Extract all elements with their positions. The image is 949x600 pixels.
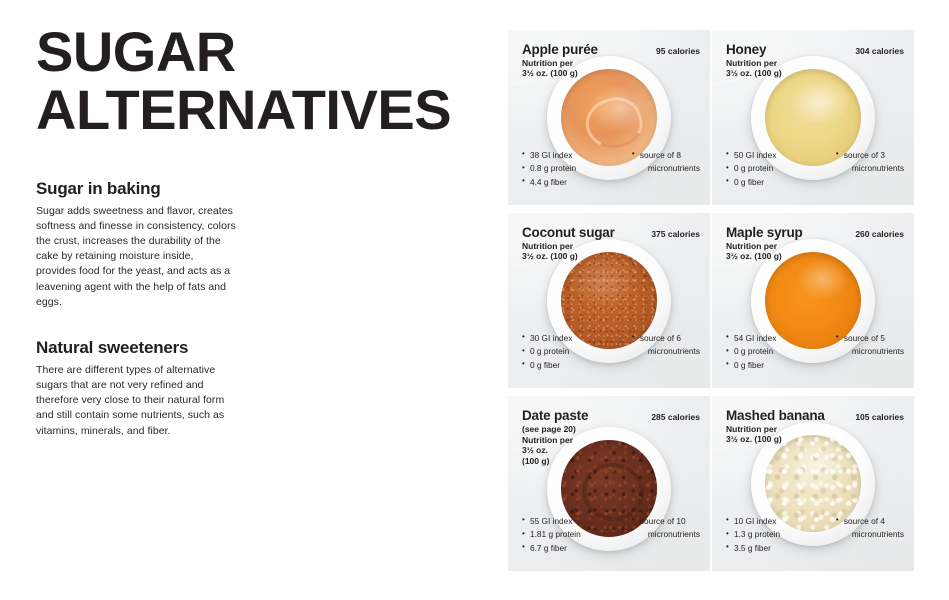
card-facts: 10 GI index 1.3 g protein 3.5 g fiber so… — [726, 515, 904, 555]
fact-list-left: 55 GI index 1.81 g protein 6.7 g fiber — [522, 515, 581, 555]
fact-micronutrients-main: source of 5 — [844, 333, 885, 343]
card-nutrition-basis: Nutrition per 3½ oz. (100 g) — [726, 241, 818, 262]
card-header: Apple purée 95 calories Nutrition per 3½… — [522, 42, 700, 79]
card-mashed-banana: Mashed banana 105 calories Nutrition per… — [712, 396, 914, 571]
fact-protein: 1.81 g protein — [522, 528, 581, 541]
card-facts: 30 GI index 0 g protein 0 g fiber source… — [522, 332, 700, 372]
fact-micronutrients-main: source of 6 — [640, 333, 681, 343]
fact-micronutrients-cont: micronutrients — [640, 345, 700, 358]
fact-fiber: 6.7 g fiber — [522, 542, 581, 555]
fact-gi-index: 30 GI index — [522, 332, 572, 345]
card-header: Mashed banana 105 calories Nutrition per… — [726, 408, 904, 445]
nutrition-basis-line-2: 3½ oz. (100 g) — [522, 251, 614, 261]
fact-gi-index: 54 GI index — [726, 332, 776, 345]
fact-micronutrients: source of 8 micronutrients — [632, 149, 700, 176]
card-title: Date paste — [522, 408, 588, 423]
fact-protein: 0 g protein — [726, 162, 776, 175]
section-natural-sweeteners: Natural sweeteners There are different t… — [36, 338, 236, 439]
fact-micronutrients: source of 6 micronutrients — [632, 332, 700, 359]
card-nutrition-basis: Nutrition per 3½ oz. (100 g) — [522, 58, 614, 79]
card-calories: 260 calories — [849, 229, 904, 239]
card-title: Mashed banana — [726, 408, 825, 423]
nutrition-basis-line-1: Nutrition per — [522, 58, 614, 68]
fact-list-left: 50 GI index 0 g protein 0 g fiber — [726, 149, 776, 189]
fact-list-right: source of 5 micronutrients — [832, 332, 904, 372]
nutrition-basis-line-1: Nutrition per — [522, 241, 614, 251]
section-heading: Sugar in baking — [36, 179, 236, 199]
nutrition-basis-line-1: Nutrition per — [726, 424, 818, 434]
fact-list-right: source of 6 micronutrients — [628, 332, 700, 372]
fact-fiber: 0 g fiber — [726, 176, 776, 189]
fact-fiber: 3.5 g fiber — [726, 542, 780, 555]
nutrition-basis-line-2: 3½ oz. (100 g) — [726, 434, 818, 444]
card-apple-puree: Apple purée 95 calories Nutrition per 3½… — [508, 30, 710, 205]
card-facts: 38 GI index 0.8 g protein 4.4 g fiber so… — [522, 149, 700, 189]
fact-micronutrients-cont: micronutrients — [844, 345, 904, 358]
card-honey: Honey 304 calories Nutrition per 3½ oz. … — [712, 30, 914, 205]
sweetener-cards-grid: Apple purée 95 calories Nutrition per 3½… — [508, 30, 914, 571]
fact-micronutrients: source of 10 micronutrients — [632, 515, 700, 542]
card-title: Coconut sugar — [522, 225, 615, 240]
card-header: Coconut sugar 375 calories Nutrition per… — [522, 225, 700, 262]
fact-protein: 0 g protein — [726, 345, 776, 358]
section-heading: Natural sweeteners — [36, 338, 236, 358]
fact-protein: 0 g protein — [522, 345, 572, 358]
section-body: There are different types of alternative… — [36, 363, 236, 439]
fact-micronutrients: source of 3 micronutrients — [836, 149, 904, 176]
page-title-line-1: SUGAR — [36, 26, 476, 78]
card-nutrition-basis: Nutrition per 3½ oz. (100 g) — [726, 424, 818, 445]
fact-micronutrients-main: source of 3 — [844, 150, 885, 160]
card-calories: 375 calories — [645, 229, 700, 239]
card-header: Honey 304 calories Nutrition per 3½ oz. … — [726, 42, 904, 79]
fact-micronutrients-cont: micronutrients — [640, 528, 700, 541]
card-calories: 105 calories — [849, 412, 904, 422]
card-maple-syrup: Maple syrup 260 calories Nutrition per 3… — [712, 213, 914, 388]
fact-list-right: source of 8 micronutrients — [628, 149, 700, 189]
nutrition-basis-line-3: (100 g) — [522, 456, 614, 466]
fact-list-left: 30 GI index 0 g protein 0 g fiber — [522, 332, 572, 372]
section-body: Sugar adds sweetness and flavor, creates… — [36, 204, 236, 311]
page-title: SUGAR ALTERNATIVES — [36, 26, 476, 135]
fact-list-right: source of 3 micronutrients — [832, 149, 904, 189]
fact-fiber: 0 g fiber — [726, 359, 776, 372]
fact-micronutrients-cont: micronutrients — [844, 162, 904, 175]
card-calories: 285 calories — [645, 412, 700, 422]
fact-protein: 0.8 g protein — [522, 162, 576, 175]
card-facts: 50 GI index 0 g protein 0 g fiber source… — [726, 149, 904, 189]
fact-protein: 1.3 g protein — [726, 528, 780, 541]
fact-micronutrients: source of 4 micronutrients — [836, 515, 904, 542]
nutrition-basis-line-1: Nutrition per — [726, 241, 818, 251]
card-coconut-sugar: Coconut sugar 375 calories Nutrition per… — [508, 213, 710, 388]
card-title: Maple syrup — [726, 225, 803, 240]
card-title: Apple purée — [522, 42, 598, 57]
fact-micronutrients-main: source of 10 — [640, 516, 686, 526]
fact-fiber: 0 g fiber — [522, 359, 572, 372]
fact-list-left: 38 GI index 0.8 g protein 4.4 g fiber — [522, 149, 576, 189]
nutrition-basis-line-2: 3½ oz. (100 g) — [726, 251, 818, 261]
fact-list-right: source of 10 micronutrients — [628, 515, 700, 555]
left-text-column: SUGAR ALTERNATIVES Sugar in baking Sugar… — [36, 26, 476, 439]
card-calories: 95 calories — [650, 46, 700, 56]
card-title: Honey — [726, 42, 766, 57]
nutrition-basis-line-1: Nutrition per — [726, 58, 818, 68]
page-title-line-2: ALTERNATIVES — [36, 84, 476, 136]
fact-micronutrients-cont: micronutrients — [844, 528, 904, 541]
section-sugar-in-baking: Sugar in baking Sugar adds sweetness and… — [36, 179, 236, 310]
nutrition-basis-line-1: Nutrition per — [522, 435, 614, 445]
card-nutrition-basis: Nutrition per 3½ oz. (100 g) — [522, 435, 614, 466]
fact-micronutrients: source of 5 micronutrients — [836, 332, 904, 359]
nutrition-basis-line-2: 3½ oz. (100 g) — [726, 68, 818, 78]
fact-gi-index: 10 GI index — [726, 515, 780, 528]
fact-list-right: source of 4 micronutrients — [832, 515, 904, 555]
fact-micronutrients-main: source of 8 — [640, 150, 681, 160]
card-page-reference: (see page 20) — [522, 424, 700, 434]
fact-gi-index: 50 GI index — [726, 149, 776, 162]
nutrition-basis-line-2: 3½ oz. — [522, 445, 614, 455]
card-header: Date paste 285 calories (see page 20) Nu… — [522, 408, 700, 466]
nutrition-basis-line-2: 3½ oz. (100 g) — [522, 68, 614, 78]
fact-gi-index: 38 GI index — [522, 149, 576, 162]
card-header: Maple syrup 260 calories Nutrition per 3… — [726, 225, 904, 262]
card-nutrition-basis: Nutrition per 3½ oz. (100 g) — [726, 58, 818, 79]
fact-micronutrients-main: source of 4 — [844, 516, 885, 526]
fact-fiber: 4.4 g fiber — [522, 176, 576, 189]
card-facts: 55 GI index 1.81 g protein 6.7 g fiber s… — [522, 515, 700, 555]
food-swirl — [579, 91, 648, 156]
card-facts: 54 GI index 0 g protein 0 g fiber source… — [726, 332, 904, 372]
card-nutrition-basis: Nutrition per 3½ oz. (100 g) — [522, 241, 614, 262]
card-date-paste: Date paste 285 calories (see page 20) Nu… — [508, 396, 710, 571]
card-calories: 304 calories — [849, 46, 904, 56]
fact-micronutrients-cont: micronutrients — [640, 162, 700, 175]
fact-list-left: 10 GI index 1.3 g protein 3.5 g fiber — [726, 515, 780, 555]
fact-gi-index: 55 GI index — [522, 515, 581, 528]
fact-list-left: 54 GI index 0 g protein 0 g fiber — [726, 332, 776, 372]
